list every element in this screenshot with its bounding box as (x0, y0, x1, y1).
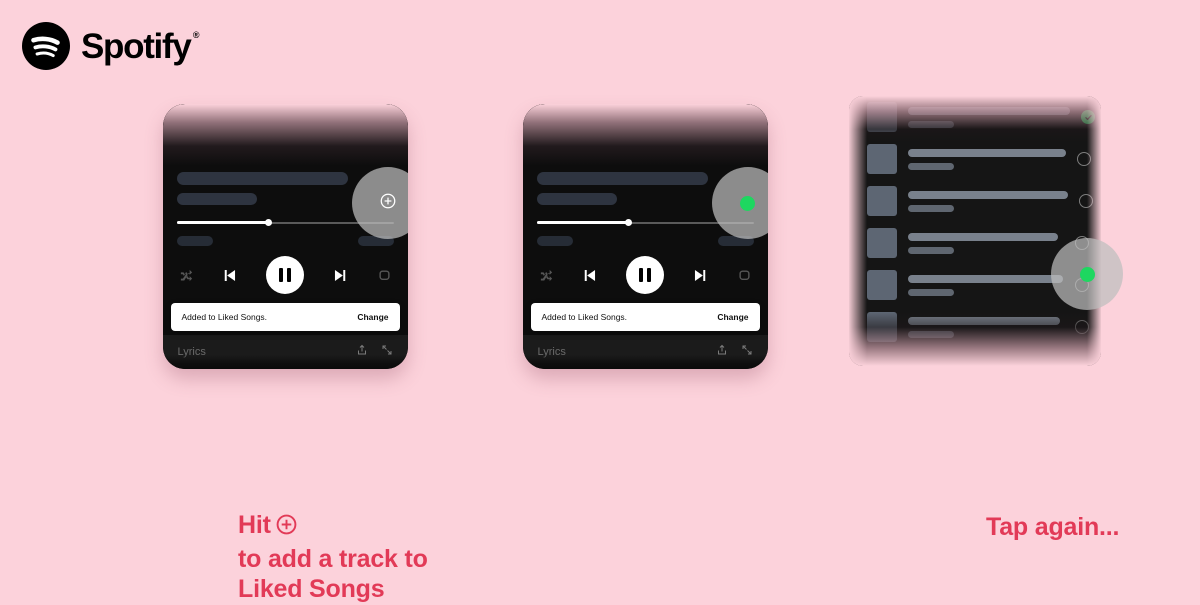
tap-indicator-liked[interactable] (1051, 238, 1123, 310)
phone-mockup-1: Lyrics Added to Liked Songs. Change (163, 104, 408, 369)
progress-knob[interactable] (265, 219, 272, 226)
playlist-screen (849, 96, 1101, 366)
share-icon[interactable] (716, 343, 728, 361)
playlist-thumbnail (867, 102, 897, 132)
skip-next-icon[interactable] (331, 266, 350, 285)
progress-fill (537, 221, 628, 224)
caption-text-1: Hit (238, 511, 271, 539)
repeat-icon[interactable] (377, 268, 392, 283)
playlist-meta-placeholder (908, 163, 954, 170)
toast-notification-1: Added to Liked Songs. Change (171, 303, 400, 331)
toast-change-button[interactable]: Change (357, 312, 388, 322)
playlist-meta-placeholder (908, 121, 954, 128)
playlist-texts (908, 317, 1064, 338)
time-row (177, 236, 394, 246)
skip-previous-icon[interactable] (580, 266, 599, 285)
playlist-meta-placeholder (908, 289, 954, 296)
playlist-row[interactable] (849, 180, 1101, 222)
spotify-brand-lockup: Spotify® (22, 22, 191, 70)
elapsed-time-placeholder (537, 236, 573, 246)
playlist-name-placeholder (908, 191, 1068, 199)
playlist-texts (908, 233, 1064, 254)
playback-controls-2 (537, 256, 754, 294)
elapsed-time-placeholder (177, 236, 213, 246)
phone-mockup-3 (849, 96, 1101, 366)
brand-wordmark: Spotify® (81, 29, 191, 64)
skip-next-icon[interactable] (691, 266, 710, 285)
player-screen-1: Lyrics Added to Liked Songs. Change (163, 104, 408, 369)
playlist-texts (908, 107, 1070, 128)
player-screen-2: Lyrics Added to Liked Songs. Change (523, 104, 768, 369)
phone-mockup-2: Lyrics Added to Liked Songs. Change (523, 104, 768, 369)
top-fade-overlay (523, 104, 768, 166)
toast-message: Added to Liked Songs. (542, 312, 628, 322)
pause-icon[interactable] (626, 256, 664, 294)
repeat-icon[interactable] (737, 268, 752, 283)
playlist-thumbnail (867, 270, 897, 300)
playlist-thumbnail (867, 312, 897, 342)
caption-add-to-liked: Hit to add a track to Liked Songs (238, 510, 428, 605)
time-row (537, 236, 754, 246)
playlist-checkbox[interactable] (1079, 194, 1093, 208)
playlist-name-placeholder (908, 107, 1070, 115)
playlist-texts (908, 275, 1064, 296)
skip-previous-icon[interactable] (220, 266, 239, 285)
toast-message: Added to Liked Songs. (182, 312, 268, 322)
shuffle-icon[interactable] (539, 268, 554, 283)
playlist-name-placeholder (908, 149, 1066, 157)
track-artist-placeholder (537, 193, 617, 205)
playlist-checkbox-selected[interactable] (1081, 110, 1095, 124)
playlist-name-placeholder (908, 275, 1063, 283)
lyrics-bar-2[interactable]: Lyrics (523, 335, 768, 369)
spotify-logo-icon (22, 22, 70, 70)
trademark-symbol: ® (193, 31, 200, 40)
playlist-thumbnail (867, 186, 897, 216)
lyrics-label: Lyrics (538, 346, 566, 358)
lyrics-bar-actions (716, 343, 753, 361)
playlist-name-placeholder (908, 317, 1060, 325)
liked-dot-icon (1080, 267, 1095, 282)
playlist-row[interactable] (849, 306, 1101, 348)
playlist-thumbnail (867, 144, 897, 174)
share-icon[interactable] (356, 343, 368, 361)
step-panel-add-to-liked: Lyrics Added to Liked Songs. Change (105, 104, 465, 369)
progress-knob[interactable] (625, 219, 632, 226)
top-fade-overlay (163, 104, 408, 166)
expand-icon[interactable] (741, 343, 753, 361)
steps-row: Lyrics Added to Liked Songs. Change (0, 104, 1200, 369)
playlist-meta-placeholder (908, 247, 954, 254)
playlist-row[interactable] (849, 96, 1101, 138)
caption-line-1: Hit (238, 510, 428, 544)
pause-icon[interactable] (266, 256, 304, 294)
playlist-thumbnail (867, 228, 897, 258)
track-artist-placeholder (177, 193, 257, 205)
toast-notification-2: Added to Liked Songs. Change (531, 303, 760, 331)
playlist-meta-placeholder (908, 205, 954, 212)
playlist-checkbox[interactable] (1075, 320, 1089, 334)
caption-line-2: to add a track to (238, 544, 428, 575)
caption-tap-again: Tap again... (986, 512, 1119, 543)
step-panel-other-playlists: ...and add it to other playlists (825, 104, 1125, 369)
plus-circle-icon (379, 192, 397, 215)
playlist-name-placeholder (908, 233, 1058, 241)
toast-change-button[interactable]: Change (717, 312, 748, 322)
track-title-placeholder (537, 172, 708, 185)
liked-dot-icon (740, 196, 755, 211)
brand-name-text: Spotify (81, 27, 191, 66)
caption-line-1: Tap again... (986, 512, 1119, 543)
playlist-checkbox[interactable] (1077, 152, 1091, 166)
step-panel-tap-again: Lyrics Added to Liked Songs. Change (465, 104, 825, 369)
track-title-placeholder (177, 172, 348, 185)
expand-icon[interactable] (381, 343, 393, 361)
playlist-meta-placeholder (908, 331, 954, 338)
lyrics-bar-1[interactable]: Lyrics (163, 335, 408, 369)
playlist-row[interactable] (849, 138, 1101, 180)
playlist-texts (908, 191, 1068, 212)
lyrics-label: Lyrics (178, 346, 206, 358)
playback-controls-1 (177, 256, 394, 294)
playlist-texts (908, 149, 1066, 170)
shuffle-icon[interactable] (179, 268, 194, 283)
plus-circle-icon (275, 513, 298, 544)
progress-fill (177, 221, 268, 224)
lyrics-bar-actions (356, 343, 393, 361)
